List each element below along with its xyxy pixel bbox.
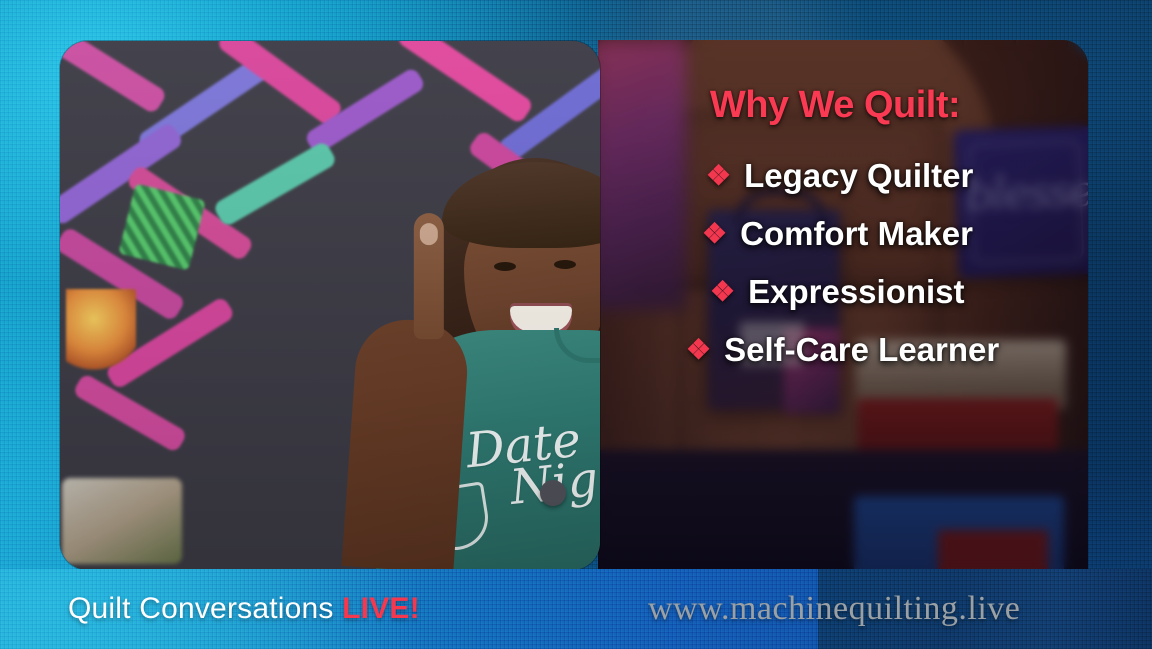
live-badge: LIVE! — [342, 592, 420, 625]
pointing-finger — [414, 213, 444, 339]
slide-content: Why We Quilt: ❖ Legacy Quilter ❖ Comfort… — [598, 40, 1088, 570]
presenter-eye-left — [494, 262, 516, 271]
diamond-bullet-icon: ❖ — [686, 336, 711, 364]
bullet-label: Legacy Quilter — [744, 157, 973, 195]
quilt-strip — [212, 140, 338, 228]
quilt-strip — [72, 373, 188, 454]
slide-panel: blessed Why We Quilt: ❖ Legacy Quilter — [598, 40, 1088, 570]
presenter-bangs — [442, 162, 600, 248]
diamond-bullet-icon: ❖ — [706, 162, 731, 190]
website-url[interactable]: www.machinequilting.live — [648, 590, 1020, 628]
quilt-strip — [60, 41, 168, 115]
camera-feed-panel: Date Night — [60, 41, 600, 570]
slide-title: Why We Quilt: — [598, 84, 1072, 127]
show-title: Quilt Conversations LIVE! — [68, 592, 420, 626]
diamond-bullet-icon: ❖ — [710, 278, 735, 306]
lapel-microphone — [540, 480, 566, 506]
presenter-arm — [341, 316, 470, 570]
bullet-label: Self-Care Learner — [724, 331, 999, 369]
bullet-label: Expressionist — [748, 273, 964, 311]
lower-third-banner: Quilt Conversations LIVE! www.machinequi… — [0, 569, 1152, 649]
quilt-patch — [118, 183, 205, 270]
list-item: ❖ Comfort Maker — [598, 215, 1072, 253]
presenter-eye-right — [554, 260, 576, 269]
show-title-text: Quilt Conversations — [68, 592, 334, 625]
broadcast-stage: blessed Why We Quilt: ❖ Legacy Quilter — [0, 0, 1152, 649]
tshirt-graphic-text: Date Night — [464, 413, 600, 514]
tshirt-neckline — [554, 328, 600, 363]
list-item: ❖ Expressionist — [598, 273, 1072, 311]
diamond-bullet-icon: ❖ — [702, 220, 727, 248]
presenter: Date Night — [322, 140, 600, 570]
flower-decor — [66, 289, 136, 375]
bullet-label: Comfort Maker — [740, 215, 973, 253]
slide-bullet-list: ❖ Legacy Quilter ❖ Comfort Maker ❖ Expre… — [598, 157, 1072, 369]
list-item: ❖ Self-Care Learner — [598, 331, 1072, 369]
desk-items — [62, 478, 182, 564]
list-item: ❖ Legacy Quilter — [598, 157, 1072, 195]
